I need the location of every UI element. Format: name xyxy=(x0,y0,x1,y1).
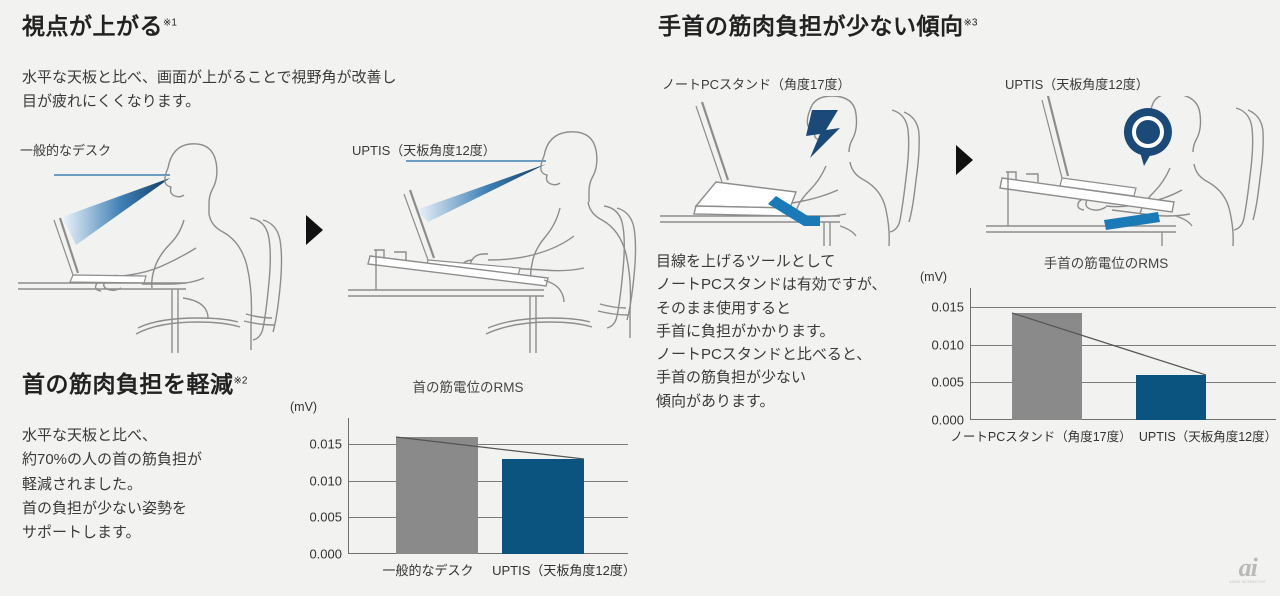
section-viewpoint-heading: 視点が上がる※1 xyxy=(22,14,177,39)
neck-ytick-2: 0.010 xyxy=(288,474,342,489)
logo-subtitle: ASAHI INTERACTIVE xyxy=(1229,581,1266,584)
logo-mark: ai xyxy=(1239,553,1257,582)
neck-category-label-1: UPTIS（天板角度12度） xyxy=(474,560,654,579)
laptop-stand-figure xyxy=(660,96,960,246)
neck-heading: 首の筋肉負担を軽減※2 xyxy=(22,372,247,397)
neck-ytick-0: 0.000 xyxy=(288,547,342,562)
wrist-ytick-3: 0.015 xyxy=(906,300,964,315)
wrist-ytick-2: 0.010 xyxy=(906,338,964,353)
neck-plot-area xyxy=(348,418,628,554)
viewpoint-illustration-normal-desk xyxy=(18,128,318,353)
wrist-figure-left-label: ノートPCスタンド（角度17度） xyxy=(662,74,851,93)
publisher-logo: ai ASAHI INTERACTIVE xyxy=(1229,555,1266,584)
level-bar-shape xyxy=(1104,212,1160,230)
viewpoint-arrow-icon xyxy=(306,215,323,245)
wrist-illustration-uptis xyxy=(986,96,1280,246)
wrist-plot-area xyxy=(970,288,1276,420)
wrist-heading: 手首の筋肉負担が少ない傾向※3 xyxy=(658,14,977,39)
viewpoint-body-text: 水平な天板と比べ、画面が上がることで視野角が改善し 目が疲れにくくなります。 xyxy=(22,66,492,115)
wrist-body-text: 目線を上げるツールとして ノートPCスタンドは有効ですが、 そのまま使用すると … xyxy=(656,250,906,413)
wrist-category-label-0: ノートPCスタンド（角度17度） xyxy=(946,426,1136,445)
wrist-chart-unit-label: (mV) xyxy=(920,270,947,284)
neck-chart-unit-label: (mV) xyxy=(290,400,317,414)
section-wrist-heading: 手首の筋肉負担が少ない傾向※3 xyxy=(658,14,977,39)
neck-connector-line xyxy=(348,418,628,554)
neck-chart-title: 首の筋電位のRMS xyxy=(318,376,618,396)
viewpoint-heading-note: ※1 xyxy=(163,17,177,28)
neck-chart: 首の筋電位のRMS (mV) 0.000 0.005 0.010 0.015 一… xyxy=(288,376,628,576)
wrist-illustration-laptop-stand xyxy=(660,96,960,246)
neck-heading-note: ※2 xyxy=(234,375,248,386)
wrist-figure-right-label: UPTIS（天板角度12度） xyxy=(1005,74,1149,93)
section-neck-heading: 首の筋肉負担を軽減※2 xyxy=(22,372,247,397)
neck-ytick-3: 0.015 xyxy=(288,437,342,452)
wrist-arrow-icon xyxy=(956,145,973,175)
neck-body-text: 水平な天板と比べ、 約70%の人の首の筋負担が 軽減されました。 首の負担が少な… xyxy=(22,424,272,545)
target-pin-icon xyxy=(1124,108,1172,156)
wrist-chart-title: 手首の筋電位のRMS xyxy=(946,252,1266,272)
uptis-wrist-figure xyxy=(986,96,1280,246)
wrist-category-label-1: UPTIS（天板角度12度） xyxy=(1128,426,1280,445)
neck-ytick-1: 0.005 xyxy=(288,510,342,525)
viewpoint-illustration-uptis xyxy=(348,128,648,353)
wrist-heading-note: ※3 xyxy=(964,17,978,28)
infographic-page: 視点が上がる※1 水平な天板と比べ、画面が上がることで視野角が改善し 目が疲れに… xyxy=(0,0,1280,596)
wrist-ytick-1: 0.005 xyxy=(906,375,964,390)
normal-desk-figure xyxy=(18,128,318,353)
lightning-bolt-icon xyxy=(806,110,840,158)
viewpoint-heading: 視点が上がる※1 xyxy=(22,14,177,39)
uptis-desk-figure xyxy=(348,128,648,353)
wrist-connector-line xyxy=(970,288,1276,420)
wrist-chart: 手首の筋電位のRMS (mV) 0.000 0.005 0.010 0.015 … xyxy=(906,252,1276,447)
